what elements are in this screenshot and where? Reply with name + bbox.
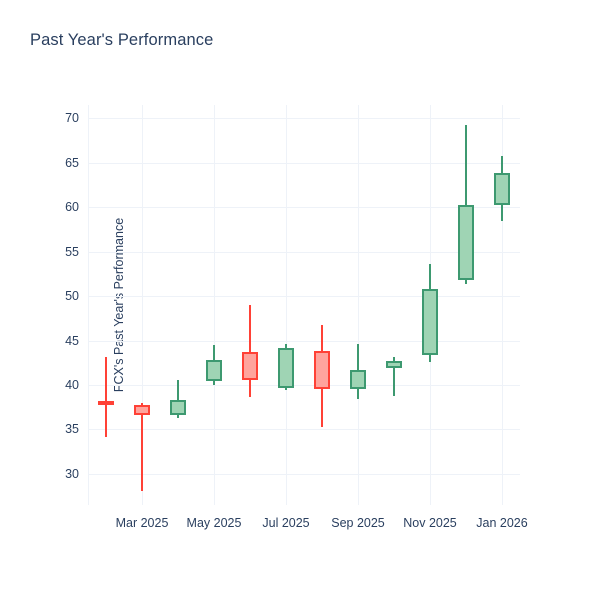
gridline-y	[88, 341, 520, 342]
y-tick-label: 50	[65, 289, 79, 303]
y-axis-title: FCX's Past Year's Performance	[112, 218, 126, 392]
candlestick[interactable]	[422, 105, 438, 505]
y-axis-line	[88, 105, 89, 505]
y-tick-label: 35	[65, 422, 79, 436]
y-tick-label: 40	[65, 378, 79, 392]
candlestick-body	[422, 289, 438, 355]
chart-root: Past Year's Performance FCX's Past Year'…	[0, 0, 600, 600]
y-tick-label: 55	[65, 245, 79, 259]
candlestick-body	[458, 205, 474, 280]
candlestick-body	[98, 401, 114, 405]
x-tick-label: Mar 2025	[116, 516, 169, 530]
candlestick[interactable]	[278, 105, 294, 505]
x-tick-label: Sep 2025	[331, 516, 385, 530]
plot-area: FCX's Past Year's Performance 3035404550…	[88, 105, 520, 505]
x-tick-label: Jan 2026	[476, 516, 527, 530]
candlestick[interactable]	[494, 105, 510, 505]
gridline-y	[88, 385, 520, 386]
candlestick-wick	[141, 403, 143, 491]
x-tick-label: May 2025	[187, 516, 242, 530]
candlestick[interactable]	[134, 105, 150, 505]
y-tick-label: 30	[65, 467, 79, 481]
candlestick-body	[206, 360, 222, 380]
candlestick[interactable]	[350, 105, 366, 505]
gridline-y	[88, 296, 520, 297]
gridline-y	[88, 474, 520, 475]
candlestick[interactable]	[170, 105, 186, 505]
gridline-y	[88, 429, 520, 430]
page-title: Past Year's Performance	[30, 31, 213, 50]
candlestick[interactable]	[98, 105, 114, 505]
candlestick[interactable]	[458, 105, 474, 505]
candlestick-body	[170, 400, 186, 415]
candlestick-body	[350, 370, 366, 389]
gridline-y	[88, 252, 520, 253]
candlestick-body	[314, 351, 330, 389]
x-tick-label: Jul 2025	[262, 516, 309, 530]
candlestick[interactable]	[242, 105, 258, 505]
candlestick[interactable]	[314, 105, 330, 505]
gridline-y	[88, 163, 520, 164]
candlestick-body	[278, 348, 294, 388]
y-tick-label: 45	[65, 334, 79, 348]
y-tick-label: 70	[65, 111, 79, 125]
gridline-y	[88, 207, 520, 208]
gridline-y	[88, 118, 520, 119]
candlestick[interactable]	[386, 105, 402, 505]
y-tick-label: 65	[65, 156, 79, 170]
candlestick-wick	[105, 357, 107, 437]
candlestick-body	[134, 405, 150, 416]
candlestick-body	[494, 173, 510, 205]
candlestick-body	[242, 352, 258, 380]
x-tick-label: Nov 2025	[403, 516, 457, 530]
y-tick-label: 60	[65, 200, 79, 214]
candlestick-body	[386, 361, 402, 368]
candlestick[interactable]	[206, 105, 222, 505]
